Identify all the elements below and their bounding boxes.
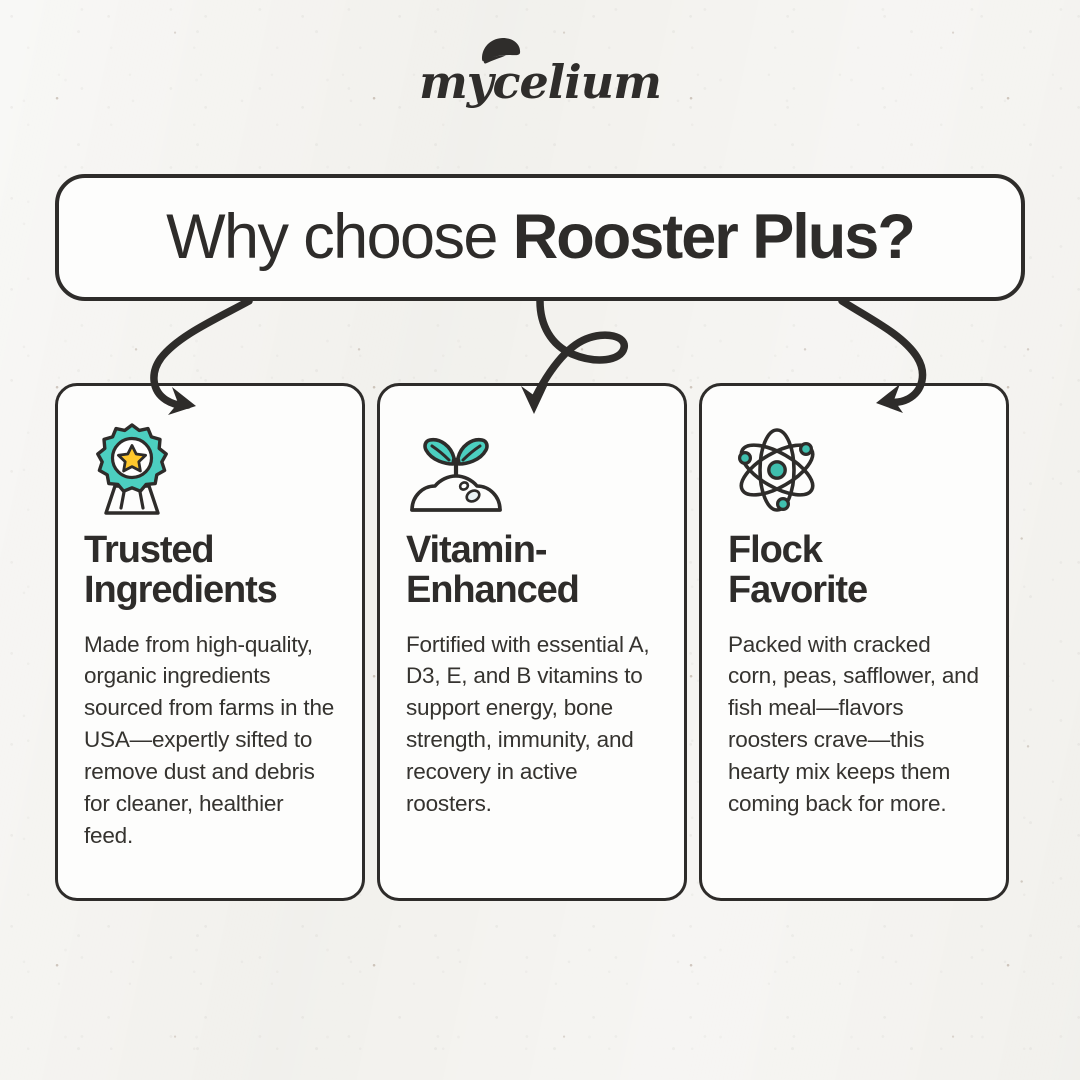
feature-card-grid: Trusted Ingredients Made from high-quali… [55, 383, 1025, 901]
title-banner: Why choose Rooster Plus? [55, 174, 1025, 301]
page-title: Why choose Rooster Plus? [166, 206, 914, 269]
feature-card-flock-favorite: Flock Favorite Packed with cracked corn,… [699, 383, 1009, 901]
title-prefix: Why choose [166, 202, 513, 272]
sprout-seedling-icon [406, 420, 658, 516]
atom-icon [728, 420, 980, 516]
card-body: Packed with cracked corn, peas, safflowe… [728, 629, 980, 821]
brand-wordmark: mycelium [419, 59, 661, 105]
card-body: Made from high-quality, organic ingredie… [84, 629, 336, 853]
feature-card-vitamin-enhanced: Vitamin- Enhanced Fortified with essenti… [377, 383, 687, 901]
card-body: Fortified with essential A, D3, E, and B… [406, 629, 658, 821]
poster-stage: mycelium Why choose Rooster Plus? .ar{ f… [0, 0, 1080, 1080]
title-emphasis: Rooster Plus? [513, 202, 914, 272]
brand-logo: mycelium [0, 36, 1080, 105]
card-title: Trusted Ingredients [84, 530, 336, 611]
card-title: Flock Favorite [728, 530, 980, 611]
feature-card-trusted-ingredients: Trusted Ingredients Made from high-quali… [55, 383, 365, 901]
card-title: Vitamin- Enhanced [406, 530, 658, 611]
award-badge-icon [84, 420, 336, 516]
